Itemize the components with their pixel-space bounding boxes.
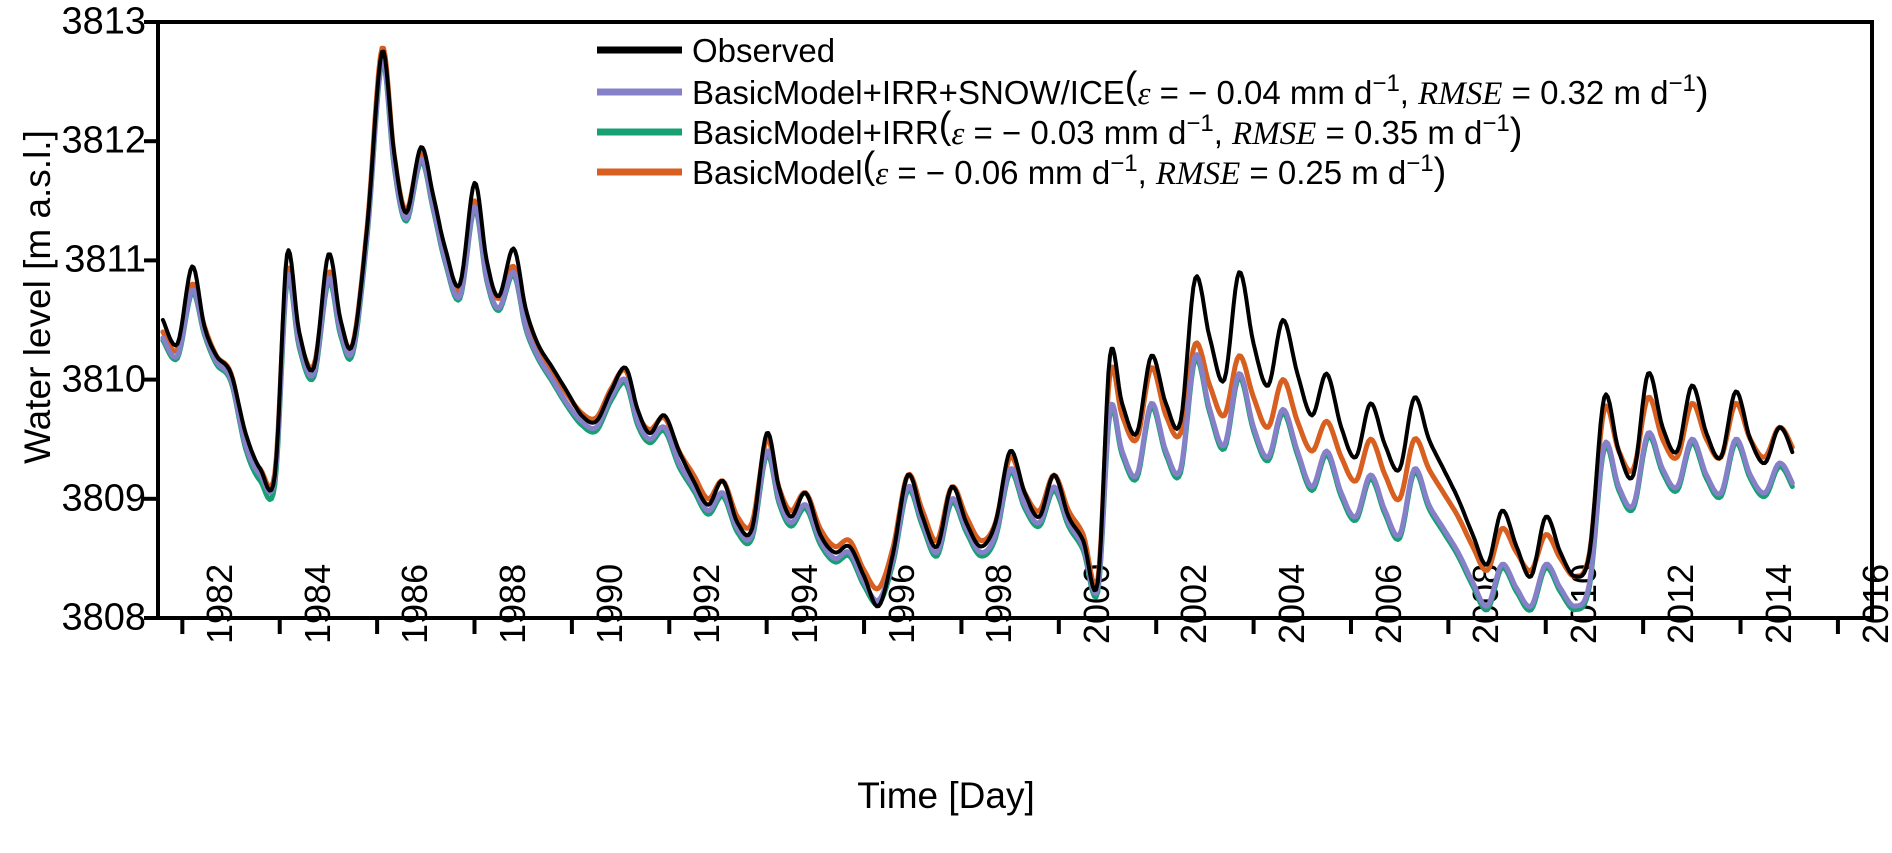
axes-frame bbox=[158, 22, 1872, 618]
legend-label-2: BasicModel+IRR(ε = − 0.03 mm d−1, RMSE =… bbox=[692, 105, 1522, 153]
chart-legend: ObservedBasicModel+IRR+SNOW/ICE(ε = − 0.… bbox=[597, 32, 1709, 193]
plot-canvas: ObservedBasicModel+IRR+SNOW/ICE(ε = − 0.… bbox=[0, 0, 1892, 853]
legend-label-3: BasicModel(ε = − 0.06 mm d−1, RMSE = 0.2… bbox=[692, 145, 1446, 193]
chart-figure: Water level [m a.s.l.] Time [Day] 380838… bbox=[0, 0, 1892, 853]
legend-label-0: Observed bbox=[692, 32, 835, 69]
legend-label-1: BasicModel+IRR+SNOW/ICE(ε = − 0.04 mm d−… bbox=[692, 65, 1709, 113]
